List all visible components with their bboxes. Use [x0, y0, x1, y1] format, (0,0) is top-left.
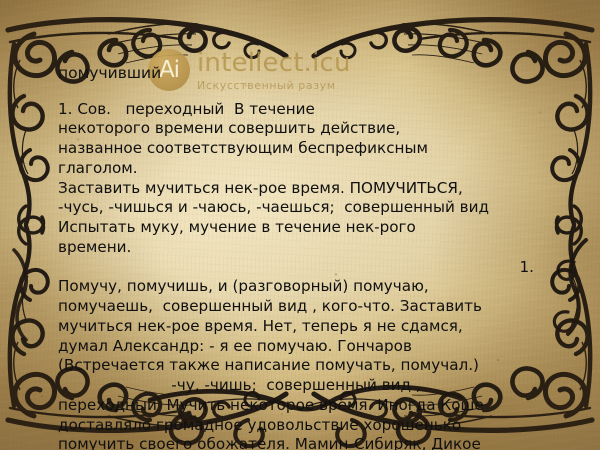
body-line: (Встречается также написание помучать, п… [58, 356, 534, 376]
body-line: мучиться нек-рое время. Нет, теперь я не… [58, 317, 534, 337]
body-line: времени. [58, 238, 534, 258]
body-line: помучаешь, совершенный вид , кого-что. З… [58, 297, 534, 317]
presentation-slide: Ai intellect.icu Искусственный разум пом… [0, 0, 600, 450]
page-title: помучивший [58, 66, 534, 82]
sense-number-marker: 1. [58, 258, 534, 278]
body-line: переходный Мучить некоторое время. Иногд… [58, 396, 534, 416]
body-line: глаголом. [58, 159, 534, 179]
dictionary-body-text: 1. Сов. переходный В течениенекоторого в… [58, 100, 534, 450]
body-line: Испытать муку, мучение в течение нек-рог… [58, 218, 534, 238]
body-line: думал Александр: - я ее помучаю. Гончаро… [58, 337, 534, 357]
body-line: Помучу, помучишь, и (разговорный) помуча… [58, 277, 534, 297]
body-line: 1. Сов. переходный В течение [58, 100, 534, 120]
body-line: доставляло громадное удовольствие хороше… [58, 416, 534, 436]
body-line: помучить своего обожателя. Мамин-Сибиряк… [58, 435, 534, 450]
body-line: Заставить мучиться нек-рое время. ПОМУЧИ… [58, 179, 534, 199]
slide-content: помучивший 1. Сов. переходный В течениен… [58, 66, 534, 450]
body-line: -чусь, -чишься и -чаюсь, -чаешься; совер… [58, 198, 534, 218]
inflection-marker: -чу, -чишь; совершенный вид , [58, 376, 534, 396]
body-line: названное соответствующим беспрефиксным [58, 139, 534, 159]
body-line: некоторого времени совершить действие, [58, 119, 534, 139]
